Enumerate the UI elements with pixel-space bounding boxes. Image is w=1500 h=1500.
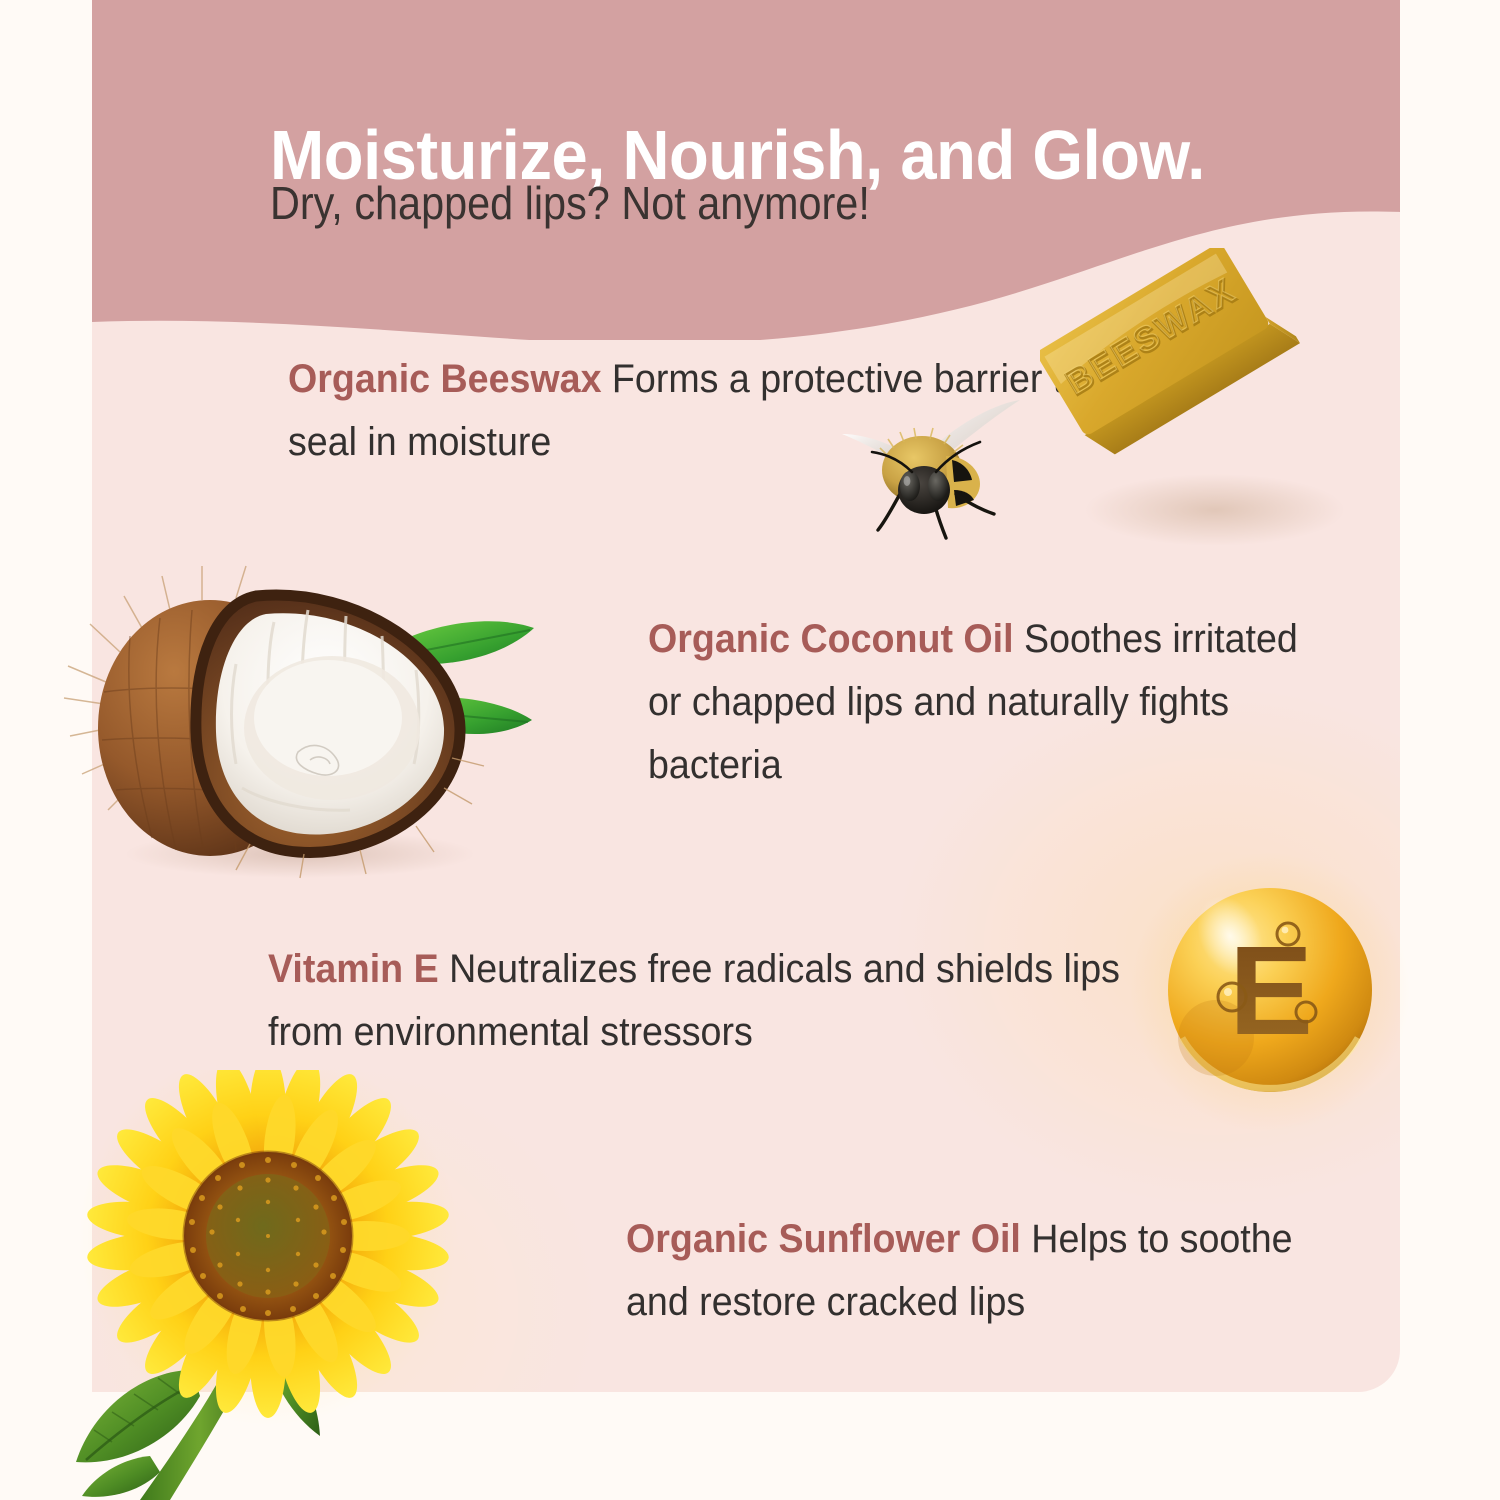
vitamin-e-droplet-image: E xyxy=(1120,852,1420,1132)
ingredient-item-coconut-oil: Organic Coconut Oil Soothes irritated or… xyxy=(648,608,1368,798)
ingredient-name-beeswax: Organic Beeswax xyxy=(288,357,601,401)
infographic-canvas: Moisturize, Nourish, and Glow. Dry, chap… xyxy=(0,0,1500,1500)
ingredient-item-sunflower-oil: Organic Sunflower Oil Helps to soothe an… xyxy=(626,1208,1386,1334)
beeswax-bar-image: BEESWAX BEESWAX xyxy=(1040,248,1380,568)
svg-text:E: E xyxy=(1229,920,1311,1061)
ingredient-item-vitamin-e: Vitamin E Neutralizes free radicals and … xyxy=(268,938,1228,1064)
page-subtitle: Dry, chapped lips? Not anymore! xyxy=(270,176,870,230)
coconut-image xyxy=(60,552,540,882)
ingredient-name-vitamin-e: Vitamin E xyxy=(268,947,439,991)
ingredient-item-beeswax: Organic Beeswax Forms a protective barri… xyxy=(288,348,1168,474)
sunflower-image xyxy=(20,1070,490,1500)
ingredient-name-coconut-oil: Organic Coconut Oil xyxy=(648,617,1014,661)
bee-image xyxy=(838,398,1028,548)
ingredient-name-sunflower-oil: Organic Sunflower Oil xyxy=(626,1217,1021,1261)
